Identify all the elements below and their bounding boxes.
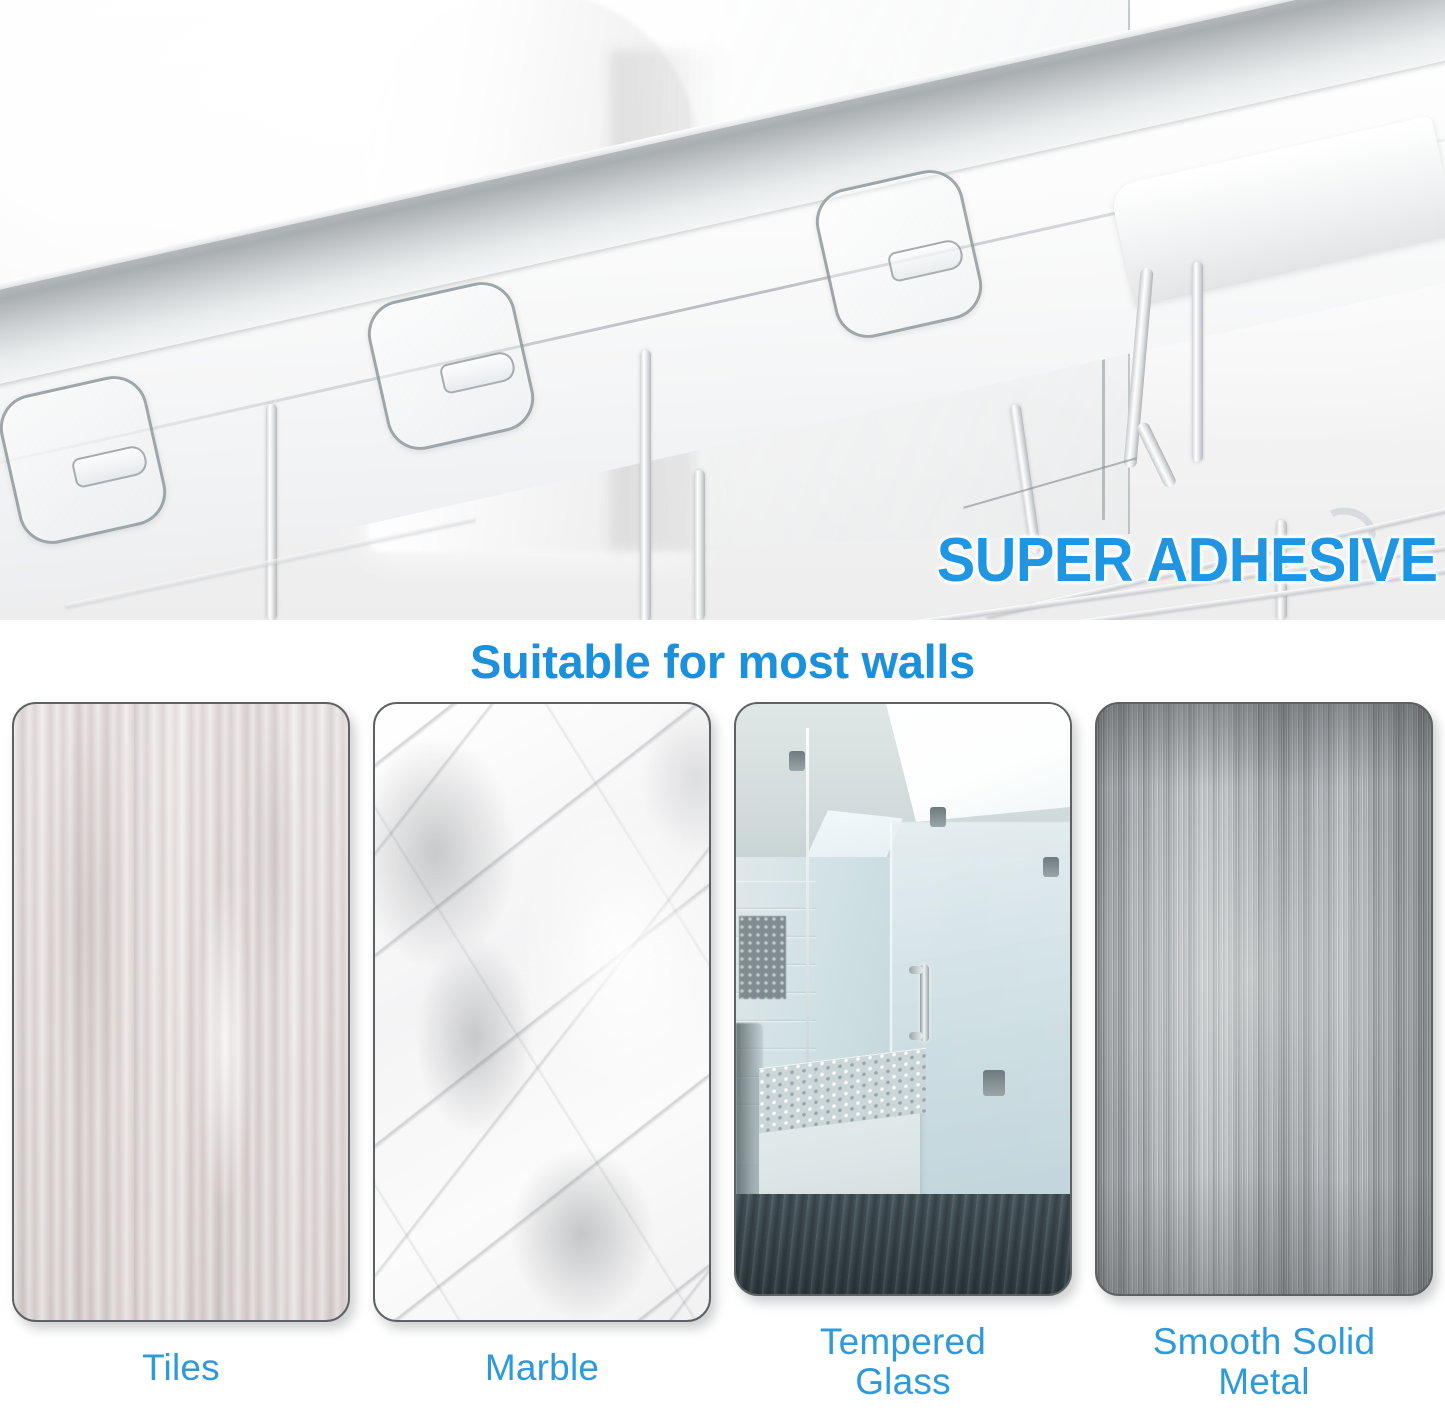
glass-clamp-icon [983, 1070, 1005, 1096]
section-subtitle: Suitable for most walls [0, 634, 1445, 689]
product-infographic: SUPER ADHESIVE Suitable for most walls T… [0, 0, 1445, 1416]
tempered-glass-photo[interactable] [734, 702, 1072, 1296]
mount-hook-peg [439, 349, 518, 394]
hero-headline: SUPER ADHESIVE [936, 530, 1437, 592]
surface-swatch-row: Tiles Marble [0, 702, 1445, 1402]
shower-scene [736, 704, 1070, 1294]
brushed-metal-swatch[interactable] [1095, 702, 1433, 1296]
swatch-caption-marble: Marble [485, 1348, 599, 1388]
support-rod [694, 470, 705, 620]
slate-floor [736, 1194, 1070, 1294]
marble-surface-swatch[interactable] [373, 702, 711, 1322]
swatch-caption-metal: Smooth Solid Metal [1153, 1322, 1375, 1402]
door-handle-icon [920, 964, 929, 1042]
swatch-caption-tempered-glass: Tempered Glass [820, 1322, 986, 1402]
glass-clamp-icon [930, 807, 946, 827]
hero-product-photo: SUPER ADHESIVE [0, 0, 1445, 620]
glass-clamp-icon [1043, 857, 1059, 877]
support-rod [640, 350, 651, 620]
swatch-cell-marble: Marble [373, 702, 711, 1402]
support-rod [266, 404, 277, 620]
swatch-cell-tempered-glass: Tempered Glass [734, 702, 1072, 1402]
support-rod [1192, 262, 1203, 462]
swatch-cell-metal: Smooth Solid Metal [1095, 702, 1433, 1402]
glass-clamp-icon [789, 751, 805, 771]
suitable-walls-section: Suitable for most walls Tiles Marble [0, 620, 1445, 1416]
swatch-cell-tiles: Tiles [12, 702, 350, 1402]
mount-hook-peg [71, 443, 150, 488]
mount-hook-peg [887, 237, 966, 282]
swatch-caption-tiles: Tiles [142, 1348, 220, 1388]
mosaic-tile-niche [739, 916, 786, 999]
tile-surface-swatch[interactable] [12, 702, 350, 1322]
